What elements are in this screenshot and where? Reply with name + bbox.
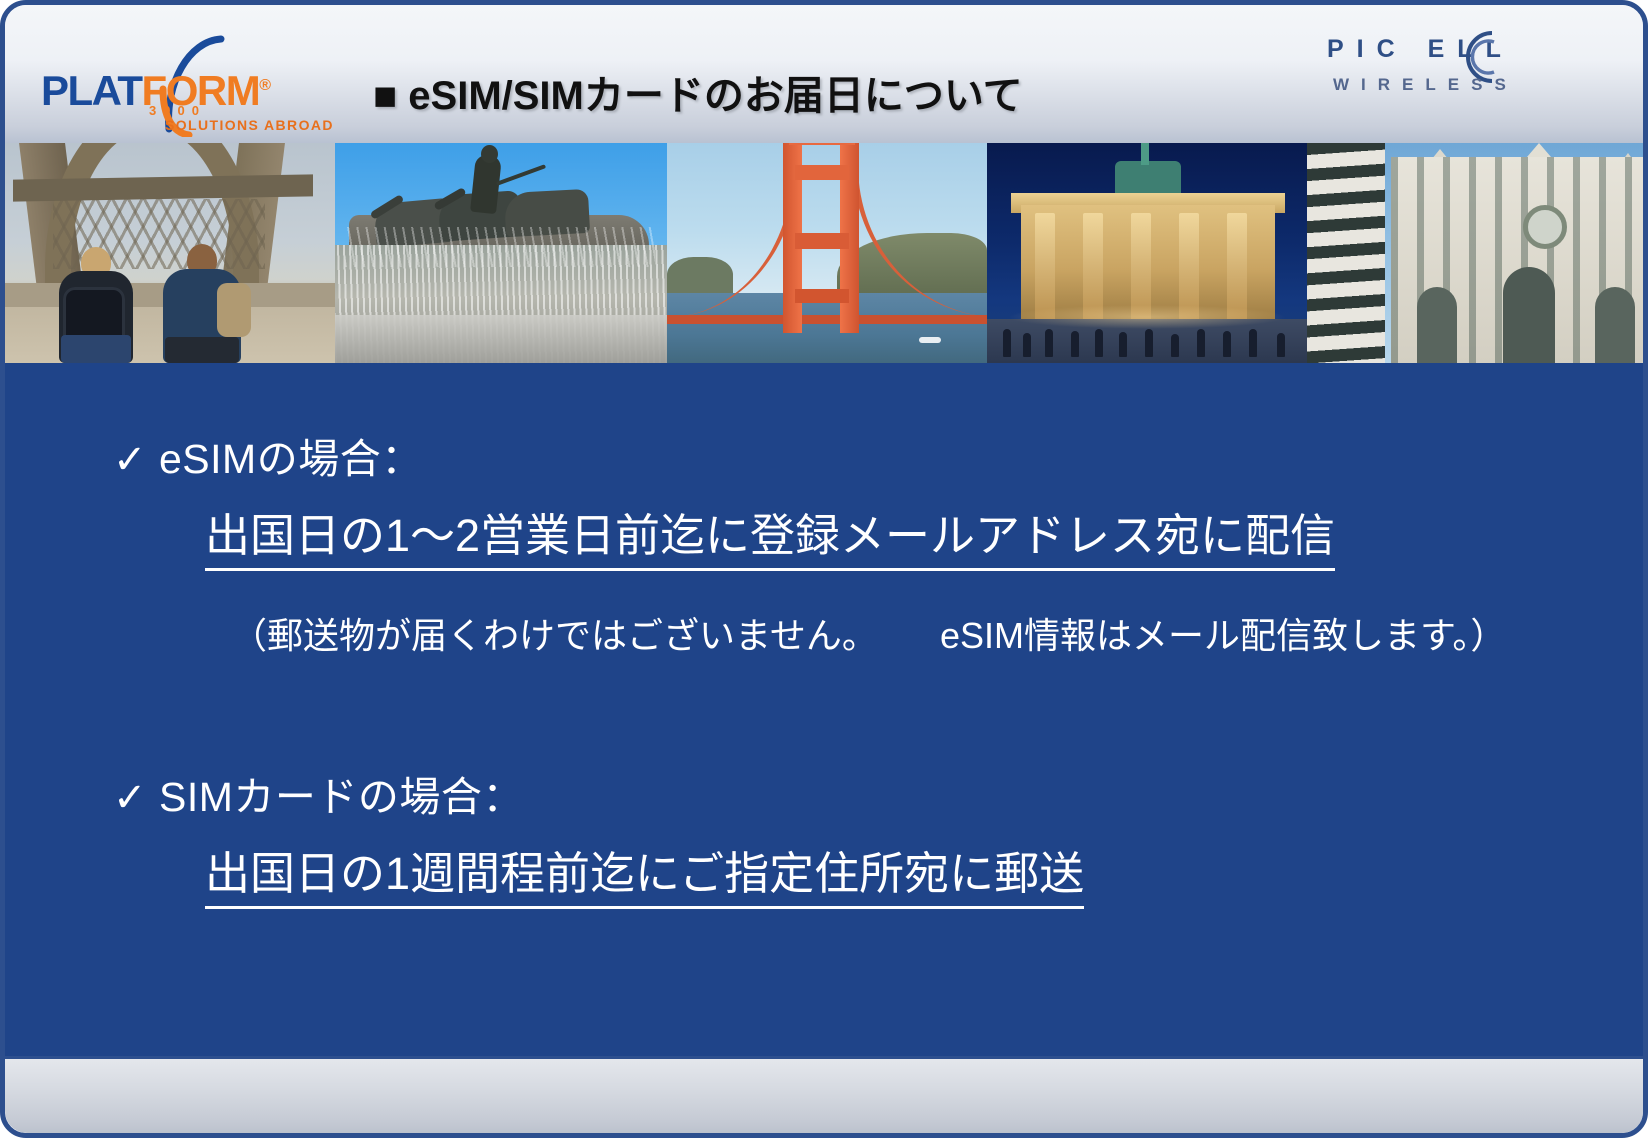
registered-mark: ® bbox=[259, 77, 269, 94]
sim-detail-text: 出国日の1週間程前迄にご指定住所宛に郵送 bbox=[205, 837, 1084, 909]
esim-detail-text: 出国日の1〜2営業日前迄に登録メールアドレス宛に配信 bbox=[205, 499, 1335, 571]
slide-body: ✓ eSIMの場合： 出国日の1〜2営業日前迄に登録メールアドレス宛に配信 （郵… bbox=[5, 363, 1648, 1069]
esim-note-part1: （郵送物が届くわけではございません。 bbox=[231, 615, 878, 656]
photo-gefion-fountain bbox=[335, 143, 667, 363]
sim-heading-label: SIMカードの場合： bbox=[159, 763, 524, 823]
esim-detail-row: 出国日の1〜2営業日前迄に登録メールアドレス宛に配信 bbox=[5, 499, 1648, 571]
platform-word-plat: PLAT bbox=[41, 67, 142, 114]
slide-footer bbox=[5, 1056, 1648, 1133]
esim-note-row: （郵送物が届くわけではございません。 eSIM情報はメール配信致します。） bbox=[5, 607, 1648, 659]
check-icon: ✓ bbox=[113, 775, 159, 821]
check-icon: ✓ bbox=[113, 437, 159, 483]
esim-block: ✓ eSIMの場合： 出国日の1〜2営業日前迄に登録メールアドレス宛に配信 （郵… bbox=[5, 425, 1648, 659]
piccell-wireless-logo: PIC ELL WIRELESS bbox=[1327, 29, 1627, 109]
platform-3000-logo: PLATFORM® 3000 SOLUTIONS ABROAD bbox=[41, 31, 341, 135]
sim-block: ✓ SIMカードの場合： 出国日の1週間程前迄にご指定住所宛に郵送 bbox=[5, 763, 1648, 909]
sim-detail-row: 出国日の1週間程前迄にご指定住所宛に郵送 bbox=[5, 837, 1648, 909]
esim-heading-row: ✓ eSIMの場合： bbox=[5, 425, 1648, 485]
photo-strip bbox=[5, 143, 1648, 363]
page-title: ■ eSIM/SIMカードのお届日について bbox=[373, 63, 1273, 121]
platform-number-3000: 3000 bbox=[149, 103, 206, 118]
esim-heading-label: eSIMの場合： bbox=[159, 425, 423, 485]
photo-brandenburg-gate bbox=[987, 143, 1307, 363]
photo-eiffel-tower bbox=[5, 143, 335, 363]
sim-heading-row: ✓ SIMカードの場合： bbox=[5, 763, 1648, 823]
platform-tagline: SOLUTIONS ABROAD bbox=[165, 117, 334, 133]
esim-note-part2: eSIM情報はメール配信致します。） bbox=[940, 615, 1506, 656]
photo-golden-gate-bridge bbox=[667, 143, 987, 363]
slide-header: PLATFORM® 3000 SOLUTIONS ABROAD ■ eSIM/S… bbox=[5, 5, 1648, 143]
piccell-subwordmark: WIRELESS bbox=[1333, 75, 1518, 95]
photo-florence-duomo bbox=[1307, 143, 1648, 363]
slide: PLATFORM® 3000 SOLUTIONS ABROAD ■ eSIM/S… bbox=[0, 0, 1648, 1138]
